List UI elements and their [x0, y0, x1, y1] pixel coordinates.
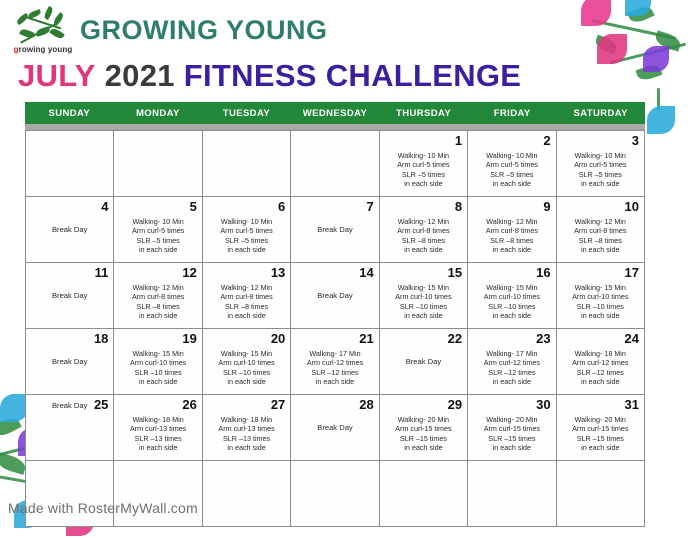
day-number: 15 — [385, 266, 462, 281]
day-number — [562, 464, 639, 479]
calendar-empty-cell — [291, 461, 379, 527]
workout-line: Walking- 10 Min — [473, 151, 550, 160]
day-number: 31 — [562, 398, 639, 413]
workout-line: Arm curl-8 times — [119, 292, 196, 301]
calendar-day-cell[interactable]: 11Break Day — [26, 263, 114, 329]
workout-line: SLR –8 times — [385, 236, 462, 245]
workout-line: in each side — [385, 245, 462, 254]
brand-name: GROWING YOUNG — [80, 17, 328, 44]
calendar-day-cell[interactable]: 26Walking- 18 MinArm curl-13 timesSLR –1… — [114, 395, 202, 461]
workout-line: Walking- 17 Min — [473, 349, 550, 358]
workout-line: Walking- 15 Min — [562, 283, 639, 292]
calendar-day-cell[interactable]: 12Walking- 12 MinArm curl-8 timesSLR –8 … — [114, 263, 202, 329]
day-number: 26 — [119, 398, 196, 413]
workout-line: Arm curl-15 times — [385, 424, 462, 433]
day-number: 1 — [385, 134, 462, 149]
day-number: 23 — [473, 332, 550, 347]
workout-task: Walking- 18 MinArm curl-13 timesSLR –13 … — [119, 415, 196, 452]
workout-line: in each side — [473, 443, 550, 452]
workout-task: Walking- 15 MinArm curl-10 timesSLR –10 … — [208, 349, 285, 386]
calendar-day-cell[interactable]: 27Walking- 18 MinArm curl-13 timesSLR –1… — [203, 395, 291, 461]
day-number — [31, 134, 108, 149]
weekday-monday: MONDAY — [114, 102, 203, 124]
workout-task: Walking- 12 MinArm curl-8 timesSLR –8 ti… — [473, 217, 550, 254]
logo-caption: growing young — [12, 45, 74, 54]
workout-task: Walking- 15 MinArm curl-10 timesSLR –10 … — [119, 349, 196, 386]
calendar-empty-cell — [291, 131, 379, 197]
workout-line: in each side — [385, 311, 462, 320]
workout-line: Walking- 12 Min — [562, 217, 639, 226]
workout-line: SLR –10 times — [473, 302, 550, 311]
workout-line: in each side — [562, 311, 639, 320]
workout-task: Walking- 15 MinArm curl-10 timesSLR –10 … — [562, 283, 639, 320]
calendar-day-cell[interactable]: 17Walking- 15 MinArm curl-10 timesSLR –1… — [557, 263, 645, 329]
workout-line: Arm curl-8 times — [473, 226, 550, 235]
workout-line: Walking- 10 Min — [385, 151, 462, 160]
day-number: 20 — [208, 332, 285, 347]
calendar-day-cell[interactable]: 21Walking- 17 MinArm curl-12 timesSLR –1… — [291, 329, 379, 395]
break-day-label: Break Day — [296, 225, 373, 234]
day-number: 19 — [119, 332, 196, 347]
workout-line: SLR –12 times — [296, 368, 373, 377]
weekday-saturday: SATURDAY — [556, 102, 645, 124]
calendar-day-cell[interactable]: 4Break Day — [26, 197, 114, 263]
workout-line: in each side — [208, 245, 285, 254]
calendar-day-cell[interactable]: 3Walking- 10 MinArm curl-5 timesSLR –5 t… — [557, 131, 645, 197]
workout-line: SLR –5 times — [385, 170, 462, 179]
workout-line: Walking- 12 Min — [385, 217, 462, 226]
calendar-day-cell[interactable]: 2Walking- 10 MinArm curl-5 timesSLR –5 t… — [468, 131, 556, 197]
calendar-empty-cell — [557, 461, 645, 527]
workout-task: Walking- 10 MinArm curl-5 timesSLR –5 ti… — [119, 217, 196, 254]
workout-line: in each side — [562, 443, 639, 452]
workout-task: Walking- 18 MinArm curl-12 timesSLR –12 … — [562, 349, 639, 386]
workout-task: Walking- 12 MinArm curl-8 timesSLR –8 ti… — [562, 217, 639, 254]
workout-task: Walking- 10 MinArm curl-5 timesSLR –5 ti… — [473, 151, 550, 188]
workout-line: Arm curl-10 times — [562, 292, 639, 301]
workout-line: SLR –5 times — [473, 170, 550, 179]
workout-line: Walking- 18 Min — [119, 415, 196, 424]
calendar-day-cell[interactable]: 1Walking- 10 MinArm curl-5 timesSLR –5 t… — [380, 131, 468, 197]
workout-line: SLR –5 times — [562, 170, 639, 179]
workout-line: in each side — [473, 245, 550, 254]
calendar-day-cell[interactable]: 24Walking- 18 MinArm curl-12 timesSLR –1… — [557, 329, 645, 395]
calendar-day-cell[interactable]: 22Break Day — [380, 329, 468, 395]
workout-line: in each side — [562, 179, 639, 188]
workout-line: Walking- 20 Min — [473, 415, 550, 424]
calendar-day-cell[interactable]: 18Break Day — [26, 329, 114, 395]
workout-line: Arm curl-5 times — [208, 226, 285, 235]
workout-line: Walking- 18 Min — [208, 415, 285, 424]
calendar-weekday-header: SUNDAYMONDAYTUESDAYWEDNESDAYTHURSDAYFRID… — [25, 102, 645, 124]
calendar-day-cell[interactable]: 29Walking- 20 MinArm curl-15 timesSLR –1… — [380, 395, 468, 461]
title-month: JULY — [18, 60, 96, 91]
workout-line: Walking- 15 Min — [473, 283, 550, 292]
day-number — [208, 464, 285, 479]
workout-line: in each side — [562, 377, 639, 386]
day-number: 24 — [562, 332, 639, 347]
workout-line: SLR –8 times — [562, 236, 639, 245]
weekday-tuesday: TUESDAY — [202, 102, 291, 124]
workout-line: SLR –10 times — [119, 368, 196, 377]
workout-task: Walking- 20 MinArm curl-15 timesSLR –15 … — [473, 415, 550, 452]
calendar-empty-cell — [203, 131, 291, 197]
workout-line: Walking- 15 Min — [385, 283, 462, 292]
day-number — [385, 464, 462, 479]
workout-task: Walking- 17 MinArm curl-12 timesSLR –12 … — [473, 349, 550, 386]
workout-line: Arm curl-10 times — [473, 292, 550, 301]
workout-line: in each side — [473, 377, 550, 386]
workout-task: Walking- 12 MinArm curl-8 timesSLR –8 ti… — [208, 283, 285, 320]
workout-line: Walking- 10 Min — [562, 151, 639, 160]
workout-line: Arm curl-15 times — [473, 424, 550, 433]
workout-line: SLR –5 times — [208, 236, 285, 245]
workout-line: Walking- 15 Min — [208, 349, 285, 358]
workout-line: Walking- 15 Min — [119, 349, 196, 358]
workout-line: in each side — [385, 443, 462, 452]
workout-line: Arm curl-8 times — [385, 226, 462, 235]
workout-line: SLR –13 times — [208, 434, 285, 443]
title-subject: FITNESS CHALLENGE — [184, 60, 522, 91]
day-number: 8 — [385, 200, 462, 215]
workout-line: SLR –15 times — [385, 434, 462, 443]
logo-caption-rest: rowing young — [19, 45, 73, 54]
calendar-day-cell[interactable]: 13Walking- 12 MinArm curl-8 timesSLR –8 … — [203, 263, 291, 329]
calendar-day-cell[interactable]: 15Walking- 15 MinArm curl-10 timesSLR –1… — [380, 263, 468, 329]
day-number — [296, 464, 373, 479]
workout-line: Arm curl-15 times — [562, 424, 639, 433]
calendar-empty-cell — [203, 461, 291, 527]
workout-task: Walking- 10 MinArm curl-5 timesSLR –5 ti… — [385, 151, 462, 188]
workout-line: in each side — [296, 377, 373, 386]
workout-line: Arm curl-5 times — [562, 160, 639, 169]
workout-line: Arm curl-10 times — [119, 358, 196, 367]
calendar-empty-cell — [26, 461, 114, 527]
calendar-body: 1Walking- 10 MinArm curl-5 timesSLR –5 t… — [25, 130, 645, 527]
workout-line: SLR –10 times — [562, 302, 639, 311]
workout-line: SLR –12 times — [562, 368, 639, 377]
workout-task: Walking- 20 MinArm curl-15 timesSLR –15 … — [385, 415, 462, 452]
calendar-poster: growing young GROWING YOUNG JULY 2021 FI… — [0, 0, 690, 533]
workout-task: Walking- 20 MinArm curl-15 timesSLR –15 … — [562, 415, 639, 452]
workout-line: in each side — [208, 311, 285, 320]
workout-line: in each side — [385, 179, 462, 188]
day-number: 5 — [119, 200, 196, 215]
workout-line: Arm curl-5 times — [385, 160, 462, 169]
workout-task: Walking- 17 MinArm curl-12 timesSLR –12 … — [296, 349, 373, 386]
floral-decoration-top-right — [585, 0, 690, 102]
calendar-day-cell[interactable]: 14Break Day — [291, 263, 379, 329]
workout-line: Arm curl-12 times — [296, 358, 373, 367]
calendar-day-cell[interactable]: 8Walking- 12 MinArm curl-8 timesSLR –8 t… — [380, 197, 468, 263]
day-number — [31, 464, 108, 479]
workout-line: Walking- 12 Min — [208, 283, 285, 292]
calendar-empty-cell — [26, 131, 114, 197]
workout-line: in each side — [119, 443, 196, 452]
calendar-empty-cell — [380, 461, 468, 527]
day-number: 11 — [31, 266, 108, 281]
workout-line: Walking- 10 Min — [208, 217, 285, 226]
workout-line: Walking- 18 Min — [562, 349, 639, 358]
day-number: 7 — [296, 200, 373, 215]
leaf-branch-icon: growing young — [12, 6, 74, 54]
day-number — [119, 134, 196, 149]
calendar-day-cell[interactable]: 28Break Day — [291, 395, 379, 461]
workout-line: in each side — [208, 443, 285, 452]
workout-line: Arm curl-8 times — [562, 226, 639, 235]
workout-line: in each side — [119, 311, 196, 320]
workout-line: Arm curl-10 times — [208, 358, 285, 367]
day-number: 28 — [296, 398, 373, 413]
day-number: 18 — [31, 332, 108, 347]
page-title: JULY 2021 FITNESS CHALLENGE — [18, 60, 521, 91]
break-day-label: Break Day — [31, 291, 108, 300]
made-with-credit: Made with RosterMyWall.com — [8, 500, 198, 516]
workout-line: SLR –13 times — [119, 434, 196, 443]
workout-line: Arm curl-13 times — [208, 424, 285, 433]
workout-line: SLR –12 times — [473, 368, 550, 377]
workout-line: in each side — [473, 179, 550, 188]
day-number: 21 — [296, 332, 373, 347]
workout-line: SLR –8 times — [473, 236, 550, 245]
break-day-label: Break Day — [296, 423, 373, 432]
day-number: 2 — [473, 134, 550, 149]
day-number: 30 — [473, 398, 550, 413]
workout-line: in each side — [562, 245, 639, 254]
day-number — [119, 464, 196, 479]
workout-line: SLR –15 times — [562, 434, 639, 443]
workout-line: Walking- 17 Min — [296, 349, 373, 358]
day-number — [208, 134, 285, 149]
day-number: 9 — [473, 200, 550, 215]
calendar-empty-cell — [114, 461, 202, 527]
workout-line: SLR –15 times — [473, 434, 550, 443]
workout-line: in each side — [119, 377, 196, 386]
day-number: 3 — [562, 134, 639, 149]
title-year: 2021 — [105, 60, 175, 91]
calendar-day-cell[interactable]: 25Break Day — [26, 395, 114, 461]
day-number: 10 — [562, 200, 639, 215]
workout-task: Walking- 10 MinArm curl-5 timesSLR –5 ti… — [208, 217, 285, 254]
break-day-label: Break Day — [296, 291, 373, 300]
calendar-day-cell[interactable]: 10Walking- 12 MinArm curl-8 timesSLR –8 … — [557, 197, 645, 263]
workout-task: Walking- 12 MinArm curl-8 timesSLR –8 ti… — [119, 283, 196, 320]
calendar-day-cell[interactable]: 6Walking- 10 MinArm curl-5 timesSLR –5 t… — [203, 197, 291, 263]
workout-line: Walking- 12 Min — [473, 217, 550, 226]
calendar-day-cell[interactable]: 31Walking- 20 MinArm curl-15 timesSLR –1… — [557, 395, 645, 461]
workout-line: in each side — [473, 311, 550, 320]
day-number: 14 — [296, 266, 373, 281]
day-number: 22 — [385, 332, 462, 347]
workout-line: Arm curl-5 times — [473, 160, 550, 169]
calendar-day-cell[interactable]: 20Walking- 15 MinArm curl-10 timesSLR –1… — [203, 329, 291, 395]
calendar-day-cell[interactable]: 23Walking- 17 MinArm curl-12 timesSLR –1… — [468, 329, 556, 395]
workout-task: Walking- 15 MinArm curl-10 timesSLR –10 … — [385, 283, 462, 320]
day-number — [473, 464, 550, 479]
workout-line: SLR –10 times — [385, 302, 462, 311]
workout-task: Walking- 10 MinArm curl-5 timesSLR –5 ti… — [562, 151, 639, 188]
day-number: 17 — [562, 266, 639, 281]
floral-decoration-right — [645, 92, 690, 142]
calendar-empty-cell — [114, 131, 202, 197]
workout-line: Arm curl-10 times — [385, 292, 462, 301]
weekday-wednesday: WEDNESDAY — [291, 102, 380, 124]
workout-task: Walking- 12 MinArm curl-8 timesSLR –8 ti… — [385, 217, 462, 254]
workout-line: Walking- 10 Min — [119, 217, 196, 226]
calendar-empty-cell — [468, 461, 556, 527]
workout-line: Arm curl-8 times — [208, 292, 285, 301]
workout-line: Walking- 20 Min — [562, 415, 639, 424]
calendar-day-cell[interactable]: 16Walking- 15 MinArm curl-10 timesSLR –1… — [468, 263, 556, 329]
calendar-day-cell[interactable]: 9Walking- 12 MinArm curl-8 timesSLR –8 t… — [468, 197, 556, 263]
calendar-grid: SUNDAYMONDAYTUESDAYWEDNESDAYTHURSDAYFRID… — [25, 102, 645, 527]
day-number: 29 — [385, 398, 462, 413]
calendar-day-cell[interactable]: 30Walking- 20 MinArm curl-15 timesSLR –1… — [468, 395, 556, 461]
day-number: 6 — [208, 200, 285, 215]
day-number: 13 — [208, 266, 285, 281]
weekday-friday: FRIDAY — [468, 102, 557, 124]
workout-line: Arm curl-5 times — [119, 226, 196, 235]
workout-line: in each side — [208, 377, 285, 386]
workout-line: SLR –5 times — [119, 236, 196, 245]
day-number: 4 — [31, 200, 108, 215]
workout-line: in each side — [119, 245, 196, 254]
weekday-sunday: SUNDAY — [25, 102, 114, 124]
calendar-day-cell[interactable]: 7Break Day — [291, 197, 379, 263]
brand-header: growing young GROWING YOUNG — [12, 6, 328, 54]
workout-line: SLR –8 times — [208, 302, 285, 311]
workout-line: Arm curl-12 times — [562, 358, 639, 367]
workout-line: SLR –8 times — [119, 302, 196, 311]
day-number — [296, 134, 373, 149]
workout-line: SLR –10 times — [208, 368, 285, 377]
workout-task: Walking- 18 MinArm curl-13 timesSLR –13 … — [208, 415, 285, 452]
calendar-day-cell[interactable]: 19Walking- 15 MinArm curl-10 timesSLR –1… — [114, 329, 202, 395]
workout-line: Arm curl-12 times — [473, 358, 550, 367]
workout-line: Walking- 20 Min — [385, 415, 462, 424]
calendar-day-cell[interactable]: 5Walking- 10 MinArm curl-5 timesSLR –5 t… — [114, 197, 202, 263]
break-day-label: Break Day — [31, 357, 108, 366]
break-day-label: Break Day — [385, 357, 462, 366]
weekday-thursday: THURSDAY — [379, 102, 468, 124]
workout-line: Walking- 12 Min — [119, 283, 196, 292]
workout-line: Arm curl-13 times — [119, 424, 196, 433]
workout-task: Walking- 15 MinArm curl-10 timesSLR –10 … — [473, 283, 550, 320]
day-number: 12 — [119, 266, 196, 281]
day-number: 16 — [473, 266, 550, 281]
day-number: 27 — [208, 398, 285, 413]
break-day-label: Break Day — [31, 225, 108, 234]
